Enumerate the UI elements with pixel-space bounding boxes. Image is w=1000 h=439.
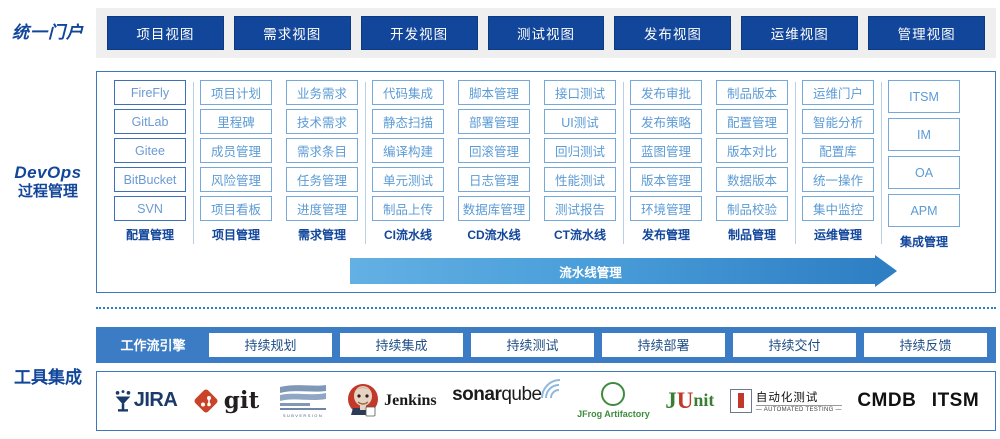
devops-cell[interactable]: 技术需求 [286, 109, 358, 134]
workflow-stage-continuous-deployment[interactable]: 持续部署 [602, 333, 725, 357]
devops-column-integration-management: ITSM IM OA APM 集成管理 [881, 80, 967, 250]
devops-column-ct-pipeline: 接口测试 UI测试 回归测试 性能测试 测试报告 CT流水线 [537, 80, 623, 250]
section-divider [96, 307, 996, 309]
itsm-logo-icon: ITSM [932, 378, 979, 424]
portal-button-strip: 项目视图 需求视图 开发视图 测试视图 发布视图 运维视图 管理视图 [96, 8, 996, 58]
unified-portal-label-text: 统一门户 [0, 23, 96, 43]
portal-button-test-view[interactable]: 测试视图 [488, 16, 605, 50]
devops-cell[interactable]: IM [888, 118, 960, 151]
jfrog-artifactory-logo-icon: JFrog Artifactory [577, 378, 650, 424]
unified-portal-row: 统一门户 项目视图 需求视图 开发视图 测试视图 发布视图 运维视图 管理视图 [0, 0, 1000, 66]
junit-logo-icon: JUnit [665, 378, 714, 424]
sonarqube-logo-icon: sonar qube [452, 378, 562, 424]
devops-column-ci-pipeline: 代码集成 静态扫描 编译构建 单元测试 制品上传 CI流水线 [365, 80, 451, 250]
workflow-stage-continuous-delivery[interactable]: 持续交付 [733, 333, 856, 357]
devops-cell[interactable]: 任务管理 [286, 167, 358, 192]
devops-cell[interactable]: 环境管理 [630, 196, 702, 221]
devops-cell[interactable]: 静态扫描 [372, 109, 444, 134]
devops-cell[interactable]: 制品版本 [716, 80, 788, 105]
subversion-logo-icon: SUBVERSION [275, 378, 331, 424]
devops-cell[interactable]: FireFly [114, 80, 186, 105]
devops-label-line1: DevOps [0, 163, 96, 183]
workflow-stage-continuous-planning[interactable]: 持续规划 [209, 333, 332, 357]
tool-integration-label-text: 工具集成 [0, 368, 96, 388]
devops-cell[interactable]: Gitee [114, 138, 186, 163]
workflow-stage-continuous-integration[interactable]: 持续集成 [340, 333, 463, 357]
devops-cell[interactable]: 成员管理 [200, 138, 272, 163]
sonarqube-logo-text-bold: sonar [452, 384, 501, 406]
devops-cell[interactable]: 数据版本 [716, 167, 788, 192]
devops-cell[interactable]: SVN [114, 196, 186, 221]
tool-integration-label: 工具集成 [0, 368, 96, 388]
devops-cell[interactable]: 进度管理 [286, 196, 358, 221]
devops-cell[interactable]: 需求条目 [286, 138, 358, 163]
pipeline-arrow-label: 流水线管理 [559, 262, 622, 281]
devops-row: DevOps 过程管理 FireFly GitLab Gitee BitBuck… [0, 68, 1000, 296]
devops-column-title: CD流水线 [458, 226, 530, 243]
devops-cell[interactable]: 蓝图管理 [630, 138, 702, 163]
git-logo-icon: git [193, 378, 259, 424]
devops-label: DevOps 过程管理 [0, 163, 96, 201]
devops-column-title: CI流水线 [372, 226, 444, 243]
devops-cell[interactable]: 单元测试 [372, 167, 444, 192]
workflow-engine-bar: 工作流引擎 持续规划 持续集成 持续测试 持续部署 持续交付 持续反馈 [96, 327, 996, 363]
devops-column-project-management: 项目计划 里程碑 成员管理 风险管理 项目看板 项目管理 [193, 80, 279, 250]
devops-column-title: 配置管理 [114, 226, 186, 243]
devops-cell[interactable]: 版本管理 [630, 167, 702, 192]
automated-testing-text-cn: 自动化测试 [756, 389, 842, 405]
devops-cell[interactable]: ITSM [888, 80, 960, 113]
devops-cell[interactable]: 脚本管理 [458, 80, 530, 105]
devops-cell[interactable]: 项目看板 [200, 196, 272, 221]
devops-cell[interactable]: APM [888, 194, 960, 227]
devops-cell[interactable]: 集中监控 [802, 196, 874, 221]
cmdb-logo-text: CMDB [857, 390, 916, 412]
devops-cell[interactable]: OA [888, 156, 960, 189]
devops-cell[interactable]: 配置库 [802, 138, 874, 163]
portal-button-project-view[interactable]: 项目视图 [107, 16, 224, 50]
pipeline-arrow: 流水线管理 [107, 258, 985, 284]
devops-cell[interactable]: UI测试 [544, 109, 616, 134]
devops-column-title: 集成管理 [888, 233, 960, 250]
devops-column-title: 运维管理 [802, 226, 874, 243]
portal-button-development-view[interactable]: 开发视图 [361, 16, 478, 50]
automated-testing-logo-icon: 自动化测试 — AUTOMATED TESTING — [730, 378, 842, 424]
workflow-stage-continuous-testing[interactable]: 持续测试 [471, 333, 594, 357]
devops-cell[interactable]: 版本对比 [716, 138, 788, 163]
tool-integration-content: 工作流引擎 持续规划 持续集成 持续测试 持续部署 持续交付 持续反馈 JIRA [96, 327, 996, 431]
devops-panel: FireFly GitLab Gitee BitBucket SVN 配置管理 … [96, 71, 996, 293]
devops-cell[interactable]: 制品上传 [372, 196, 444, 221]
devops-column-title: 制品管理 [716, 226, 788, 243]
devops-cell[interactable]: 制品校验 [716, 196, 788, 221]
devops-cell[interactable]: 发布策略 [630, 109, 702, 134]
devops-column-requirement-management: 业务需求 技术需求 需求条目 任务管理 进度管理 需求管理 [279, 80, 365, 250]
devops-cell[interactable]: BitBucket [114, 167, 186, 192]
devops-cell[interactable]: 项目计划 [200, 80, 272, 105]
devops-column-title: 需求管理 [286, 226, 358, 243]
devops-cell[interactable]: 业务需求 [286, 80, 358, 105]
devops-cell[interactable]: 统一操作 [802, 167, 874, 192]
unified-portal-label: 统一门户 [0, 23, 96, 43]
devops-cell[interactable]: GitLab [114, 109, 186, 134]
jira-logo-text: JIRA [134, 389, 178, 412]
devops-column-title: CT流水线 [544, 226, 616, 243]
devops-cell[interactable]: 代码集成 [372, 80, 444, 105]
devops-columns: FireFly GitLab Gitee BitBucket SVN 配置管理 … [97, 72, 995, 250]
devops-column-artifact-management: 制品版本 配置管理 版本对比 数据版本 制品校验 制品管理 [709, 80, 795, 250]
devops-cell[interactable]: 日志管理 [458, 167, 530, 192]
git-logo-text: git [224, 387, 259, 414]
devops-cell[interactable]: 配置管理 [716, 109, 788, 134]
workflow-stage-continuous-feedback[interactable]: 持续反馈 [864, 333, 987, 357]
automated-testing-mark-icon [730, 389, 752, 413]
tool-integration-row: 工具集成 工作流引擎 持续规划 持续集成 持续测试 持续部署 持续交付 持续反馈 [0, 318, 1000, 439]
devops-cell[interactable]: 数据库管理 [458, 196, 530, 221]
devops-cell[interactable]: 运维门户 [802, 80, 874, 105]
devops-cell[interactable]: 性能测试 [544, 167, 616, 192]
devops-column-configuration-management: FireFly GitLab Gitee BitBucket SVN 配置管理 [107, 80, 193, 250]
devops-cell[interactable]: 编译构建 [372, 138, 444, 163]
tool-logo-strip: JIRA git [96, 371, 996, 431]
jenkins-logo-icon: Jenkins [346, 378, 436, 424]
portal-button-management-view[interactable]: 管理视图 [868, 16, 985, 50]
devops-cell[interactable]: 测试报告 [544, 196, 616, 221]
automated-testing-text-en: — AUTOMATED TESTING — [756, 405, 842, 413]
devops-column-cd-pipeline: 脚本管理 部署管理 回滚管理 日志管理 数据库管理 CD流水线 [451, 80, 537, 250]
devops-cell[interactable]: 接口测试 [544, 80, 616, 105]
devops-cell[interactable]: 发布审批 [630, 80, 702, 105]
jfrog-ring-icon [601, 382, 625, 406]
jira-logo-icon: JIRA [113, 378, 178, 424]
sonarqube-logo-text-light: qube [501, 384, 541, 406]
jfrog-logo-text: JFrog Artifactory [577, 409, 650, 419]
jenkins-logo-text: Jenkins [384, 392, 436, 410]
portal-button-release-view[interactable]: 发布视图 [614, 16, 731, 50]
portal-button-operations-view[interactable]: 运维视图 [741, 16, 858, 50]
automated-testing-texts: 自动化测试 — AUTOMATED TESTING — [756, 389, 842, 413]
junit-logo-text-j: J [665, 388, 677, 414]
devops-cell[interactable]: 回滚管理 [458, 138, 530, 163]
devops-column-title: 发布管理 [630, 226, 702, 243]
devops-cell[interactable]: 里程碑 [200, 109, 272, 134]
pipeline-arrow-bar: 流水线管理 [350, 258, 875, 284]
svg-text:SUBVERSION: SUBVERSION [283, 413, 323, 418]
devops-cell[interactable]: 智能分析 [802, 109, 874, 134]
devops-column-operations-management: 运维门户 智能分析 配置库 统一操作 集中监控 运维管理 [795, 80, 881, 250]
itsm-logo-text: ITSM [932, 390, 979, 412]
workflow-engine-label: 工作流引擎 [101, 335, 205, 354]
pipeline-arrow-head-icon [875, 255, 897, 287]
cmdb-logo-icon: CMDB [857, 378, 916, 424]
portal-button-requirement-view[interactable]: 需求视图 [234, 16, 351, 50]
junit-logo-text-u: U [677, 388, 694, 414]
devops-column-release-management: 发布审批 发布策略 蓝图管理 版本管理 环境管理 发布管理 [623, 80, 709, 250]
devops-cell[interactable]: 风险管理 [200, 167, 272, 192]
junit-logo-text-nit: nit [693, 390, 714, 411]
devops-cell[interactable]: 回归测试 [544, 138, 616, 163]
devops-column-title: 项目管理 [200, 226, 272, 243]
devops-cell[interactable]: 部署管理 [458, 109, 530, 134]
devops-label-line2: 过程管理 [0, 183, 96, 201]
